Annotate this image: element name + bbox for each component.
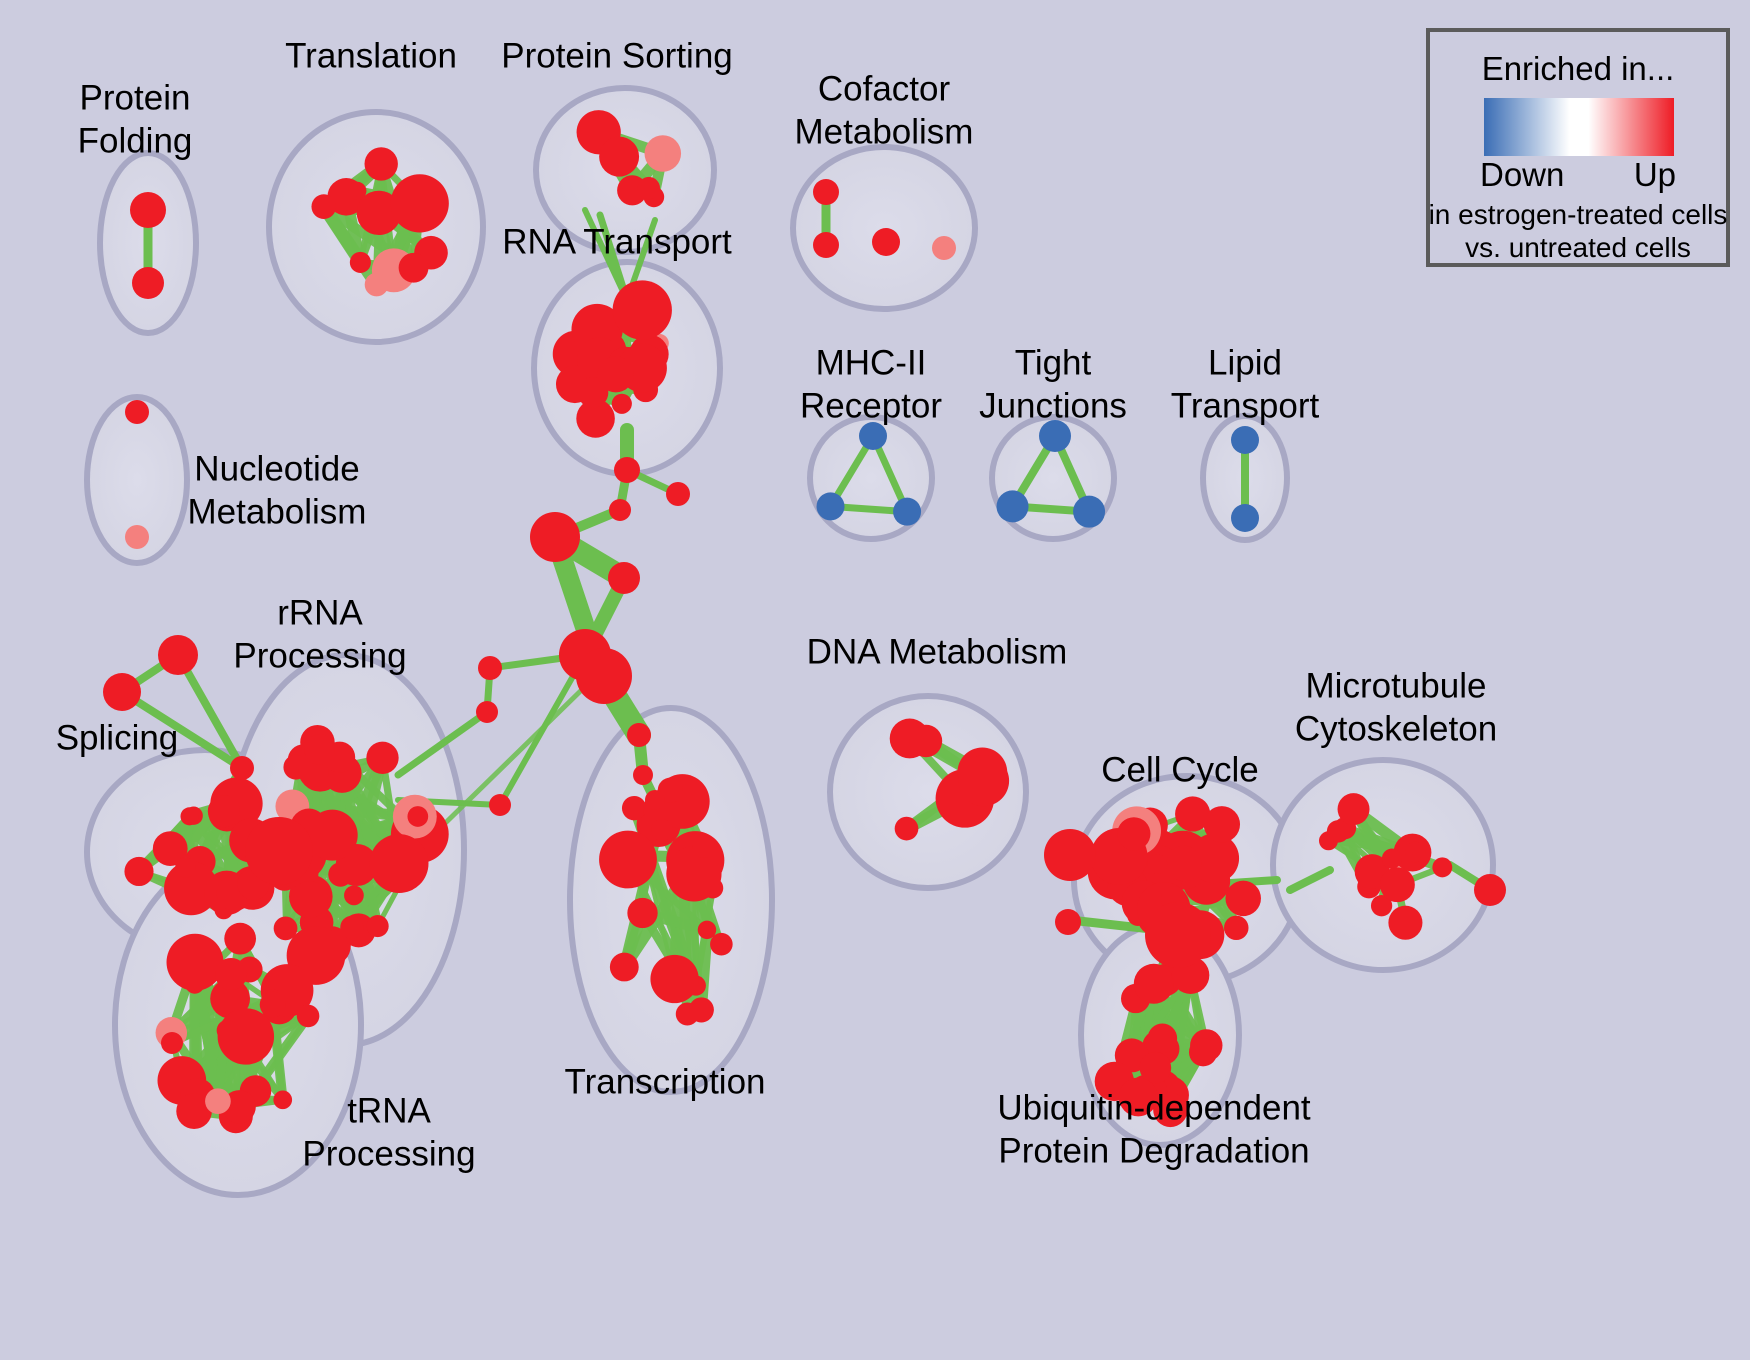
network-node [932,236,956,260]
network-node [997,490,1029,522]
legend-colorbar [1484,98,1674,156]
cluster-label-line: Cytoskeleton [1295,709,1497,748]
cluster-label-line: DNA Metabolism [807,632,1068,671]
network-node [872,228,900,256]
network-node [344,885,364,905]
cluster-label-line: tRNA [347,1091,431,1130]
network-node [230,756,254,780]
network-node [1338,793,1370,825]
network-node [710,933,733,956]
network-node [167,934,224,991]
network-node [367,915,389,937]
cluster-label-line: Ubiquitin-dependent [997,1088,1311,1127]
network-node [158,635,198,675]
network-node [910,725,942,757]
network-node [645,790,665,810]
legend-caption-line1: in estrogen-treated cells [1429,199,1728,230]
network-node [180,807,198,825]
legend-left-label: Down [1480,156,1564,193]
network-node [1432,857,1452,877]
network-node [366,742,398,774]
cluster-label-line: Nucleotide [194,449,359,488]
network-node [1474,874,1506,906]
network-node [340,916,363,939]
legend-title: Enriched in... [1482,50,1675,87]
network-node [489,794,511,816]
network-node [399,253,429,283]
cluster-label-line: Folding [78,121,193,160]
cluster-label-line: Splicing [56,718,179,757]
cluster-label-line: Metabolism [795,112,974,151]
network-node [612,394,632,414]
network-node [215,958,247,990]
network-node [1145,902,1211,968]
cluster-label-line: MHC-II [816,343,927,382]
cluster-label-line: Processing [302,1134,475,1173]
network-node [350,252,371,273]
cluster-label-line: Translation [285,36,457,75]
network-node [273,1090,292,1109]
network-node [622,796,646,820]
network-node [103,673,141,711]
network-node [1380,867,1415,902]
cluster-label-line: Lipid [1208,343,1282,382]
network-node [245,817,313,885]
network-node [859,422,887,450]
network-node [627,898,657,928]
network-node [666,482,690,506]
network-node [161,1032,183,1054]
cluster-label-line: Transcription [565,1062,766,1101]
cluster-label-line: Protein Sorting [501,36,733,75]
cluster-label-line: Tight [1015,343,1092,382]
network-node [125,400,149,424]
cluster-label-line: Processing [233,636,406,675]
network-node [609,499,631,521]
network-node [608,562,640,594]
cluster-label-line: rRNA [277,593,363,632]
legend-right-label: Up [1634,156,1676,193]
network-node [1166,846,1201,881]
network-node [1231,426,1259,454]
cluster-label-line: Microtubule [1306,666,1487,705]
cluster-label-transcription: Transcription [565,1062,766,1101]
cluster-label-line: Transport [1171,386,1320,425]
network-node [530,512,580,562]
network-node [370,834,429,893]
cluster-label-line: Protein Degradation [998,1131,1309,1170]
network-node [1073,496,1105,528]
network-node [1148,1024,1178,1054]
network-node [813,179,839,205]
network-node [895,817,919,841]
network-node [1117,817,1150,850]
network-node [813,232,839,258]
network-node [633,765,653,785]
cluster-hull-cofactor-metabolism [793,147,975,309]
network-node [576,648,632,704]
network-node [650,955,698,1003]
cluster-label-line: Receptor [800,386,942,425]
network-node [1189,1038,1217,1066]
network-node [638,177,660,199]
network-node [599,137,639,177]
network-node [124,857,153,886]
network-node [260,992,286,1018]
network-node [693,836,715,858]
network-node [651,819,673,841]
network-node [614,457,640,483]
network-figure: ProteinFoldingTranslationProtein Sorting… [0,0,1750,1360]
network-node [175,857,195,877]
network-node [1225,881,1260,916]
network-node [476,701,498,723]
network-node [627,723,651,747]
network-node [132,267,164,299]
network-node [598,356,634,392]
network-node [645,135,682,172]
network-node [610,953,639,982]
cluster-label-line: Cell Cycle [1101,750,1259,789]
network-node [407,806,428,827]
network-node [1055,909,1081,935]
cluster-label-translation: Translation [285,36,457,75]
cluster-label-line: Protein [80,78,191,117]
legend: Enriched in... Down Up in estrogen-treat… [1428,30,1728,265]
network-node [1044,829,1096,881]
network-node [613,280,672,339]
cluster-label-dna-metabolism: DNA Metabolism [807,632,1068,671]
cluster-label-line: Cofactor [818,69,951,108]
network-node [365,273,389,297]
network-node [1224,916,1248,940]
network-node [1134,964,1174,1004]
network-canvas: ProteinFoldingTranslationProtein Sorting… [0,0,1750,1360]
network-node [1327,820,1350,843]
network-node [666,846,721,901]
legend-caption-line2: vs. untreated cells [1465,232,1691,263]
network-node [364,147,397,180]
network-node [1382,849,1402,869]
network-node [304,734,335,765]
network-node [125,525,149,549]
cluster-label-protein-sorting: Protein Sorting [501,36,733,75]
network-node [130,192,166,228]
network-node [217,1020,238,1041]
network-node [1388,906,1422,940]
network-node [1231,504,1259,532]
network-node [478,656,502,680]
network-node [1405,842,1425,862]
network-node [391,174,449,232]
network-node [307,810,358,861]
network-node [893,498,921,526]
cluster-label-splicing: Splicing [56,718,179,757]
cluster-label-cell-cycle: Cell Cycle [1101,750,1259,789]
cluster-label-line: Metabolism [188,492,367,531]
network-node [1175,796,1210,831]
network-node [208,795,240,827]
network-node [817,492,845,520]
cluster-label-line: Junctions [979,386,1127,425]
network-node [224,923,256,955]
network-node [297,1005,320,1028]
network-node [599,831,657,889]
cluster-label-rna-transport: RNA Transport [502,222,732,261]
network-node [689,997,714,1022]
network-node [291,881,328,918]
network-node [1148,854,1168,874]
network-node [958,755,1009,806]
cluster-label-line: RNA Transport [502,222,732,261]
network-node [205,1088,231,1114]
network-node [311,194,336,219]
